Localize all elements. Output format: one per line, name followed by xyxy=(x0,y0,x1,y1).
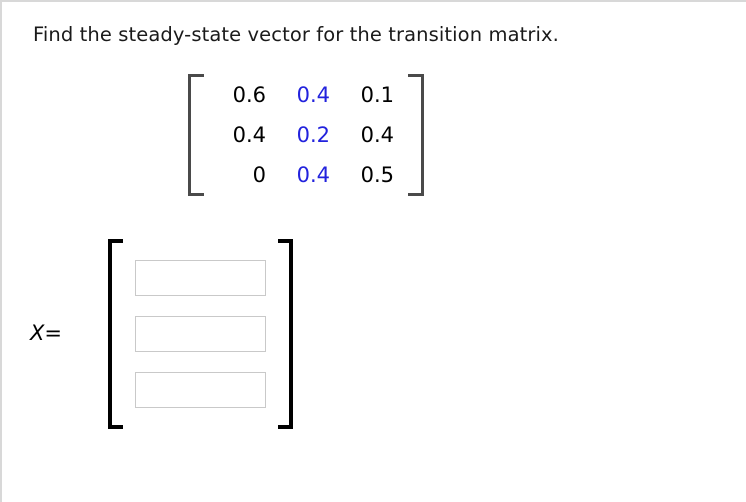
matrix-cell-r1c1: 0.6 xyxy=(210,75,274,115)
transition-matrix: 0.6 0.4 0.1 0.4 0.2 0.4 0 0.4 0.5 xyxy=(188,74,424,196)
problem-page: Find the steady-state vector for the tra… xyxy=(0,0,746,502)
answer-equals-sign: = xyxy=(44,321,62,345)
matrix-right-bracket xyxy=(408,74,424,196)
vector-right-bracket xyxy=(278,239,293,429)
vector-left-bracket xyxy=(108,239,123,429)
matrix-cell-r1c2: 0.4 xyxy=(274,75,338,115)
matrix-left-bracket xyxy=(188,74,204,196)
matrix-cell-r2c1: 0.4 xyxy=(210,115,274,155)
answer-input-row-1[interactable] xyxy=(135,260,266,296)
answer-vector xyxy=(108,239,293,429)
question-prompt: Find the steady-state vector for the tra… xyxy=(33,22,559,48)
matrix-cell-r3c3: 0.5 xyxy=(338,155,402,195)
matrix-cell-r2c3: 0.4 xyxy=(338,115,402,155)
matrix-cell-r3c2: 0.4 xyxy=(274,155,338,195)
matrix-cell-r2c2: 0.2 xyxy=(274,115,338,155)
answer-input-row-3[interactable] xyxy=(135,372,266,408)
answer-input-row-2[interactable] xyxy=(135,316,266,352)
vector-fields xyxy=(123,239,278,429)
answer-vector-block: X= xyxy=(30,239,293,429)
matrix-cell-r3c1: 0 xyxy=(210,155,274,195)
answer-variable-label: X xyxy=(30,321,44,345)
matrix-cell-r1c3: 0.1 xyxy=(338,75,402,115)
answer-label: X= xyxy=(30,321,108,347)
matrix-grid: 0.6 0.4 0.1 0.4 0.2 0.4 0 0.4 0.5 xyxy=(204,74,408,196)
